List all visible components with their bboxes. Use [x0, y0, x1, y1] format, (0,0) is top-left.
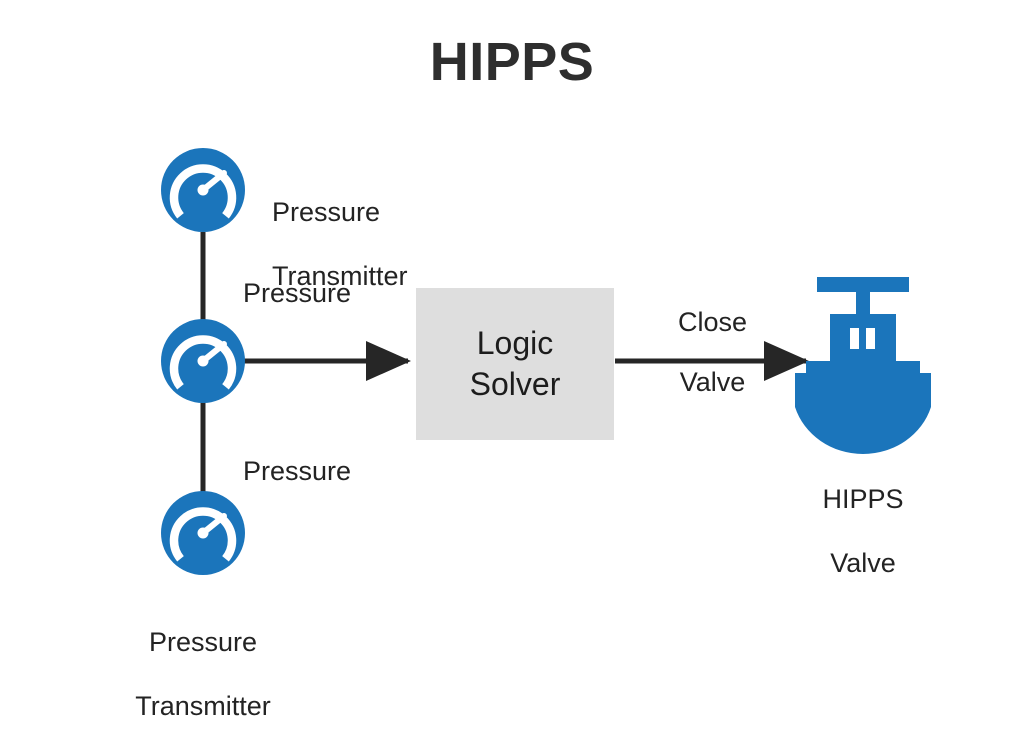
gauge-hub	[198, 185, 209, 196]
valve-body	[795, 361, 931, 454]
gauge-hub	[198, 528, 209, 539]
hipps-valve-label-line2: Valve	[743, 547, 983, 579]
gate-valve-icon[interactable]	[795, 277, 931, 454]
signal-label-upper: Pressure	[243, 277, 443, 309]
logic-solver-label-line1: Logic	[477, 323, 554, 364]
pressure-transmitter-bottom[interactable]	[161, 491, 245, 575]
valve-stem	[856, 292, 870, 314]
valve-slot-right	[866, 328, 875, 349]
diagram-canvas: HIPPS	[0, 0, 1024, 683]
valve-slot-left	[850, 328, 859, 349]
transmitter-bottom-label-line2: Transmitter	[83, 690, 323, 722]
close-valve-label-line2: Valve	[640, 366, 785, 398]
pressure-transmitter-middle[interactable]	[161, 319, 245, 403]
valve-bonnet	[830, 314, 896, 361]
hipps-valve-label: HIPPS Valve	[743, 451, 983, 612]
hipps-valve-label-line1: HIPPS	[743, 483, 983, 515]
gauge-hub	[198, 356, 209, 367]
pressure-transmitter-top[interactable]	[161, 148, 245, 232]
transmitter-top-label-line1: Pressure	[272, 196, 512, 228]
transmitter-bottom-label: Pressure Transmitter	[83, 594, 323, 755]
signal-label-lower: Pressure	[243, 455, 443, 487]
close-valve-label-line1: Close	[640, 306, 785, 338]
logic-solver-label-line2: Solver	[470, 364, 561, 405]
valve-handwheel	[817, 277, 909, 292]
transmitter-bottom-label-line1: Pressure	[83, 626, 323, 658]
